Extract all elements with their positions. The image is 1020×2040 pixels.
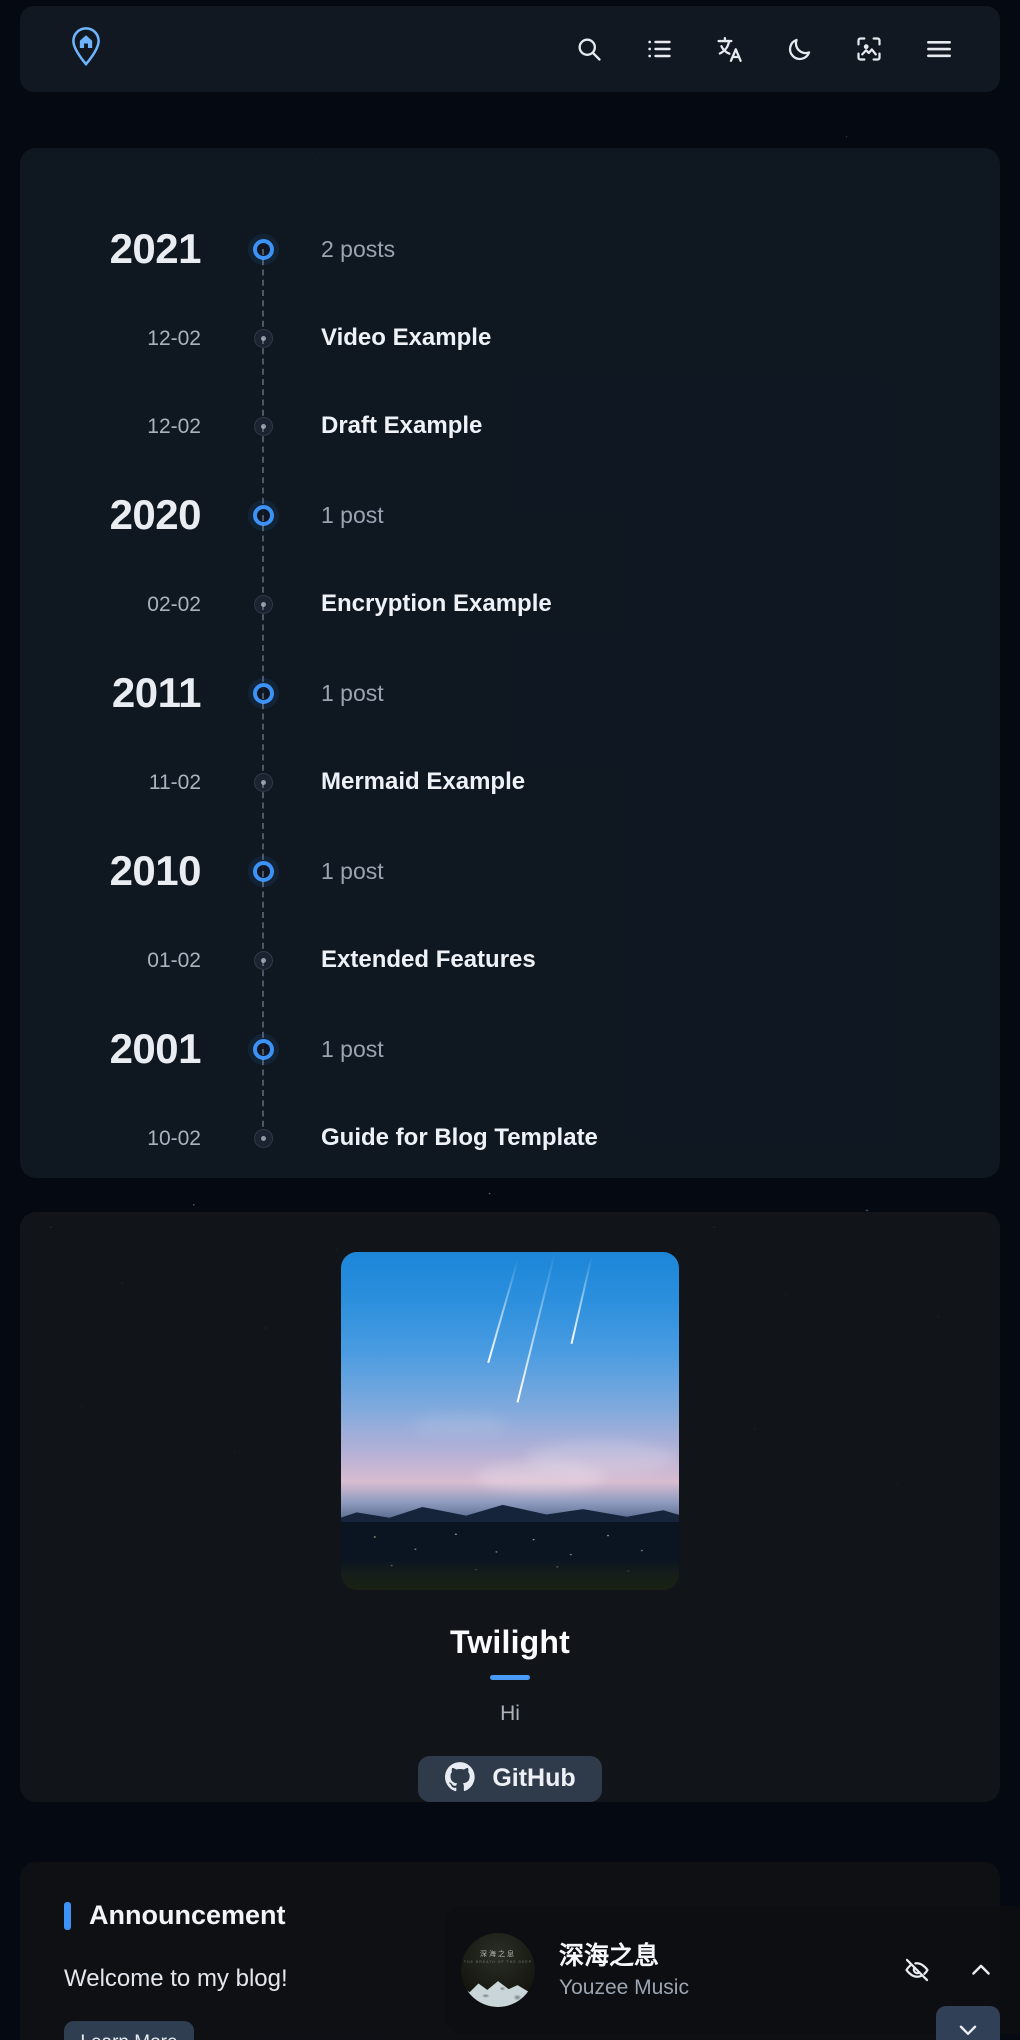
timeline-post-meta: Guide for Blog Template	[291, 1124, 598, 1152]
timeline-node	[235, 1039, 291, 1060]
timeline-post-date: 12-02	[20, 416, 201, 437]
album-cover-wave	[461, 1971, 535, 2007]
music-player: 深海之息 THE BREATH OF THE DEEP 深海之息 Youzee …	[445, 1906, 1020, 2034]
site-logo[interactable]	[68, 26, 104, 73]
timeline-node	[235, 773, 291, 792]
timeline-year-row: 20212 posts	[20, 204, 1000, 294]
search-icon[interactable]	[572, 32, 606, 66]
timeline-year-meta: 1 post	[291, 858, 384, 885]
translate-icon[interactable]	[712, 32, 746, 66]
timeline-year-row: 20201 post	[20, 470, 1000, 560]
timeline-year-row: 20101 post	[20, 826, 1000, 916]
timeline-node	[235, 683, 291, 704]
timeline-post-meta: Encryption Example	[291, 590, 552, 618]
timeline-post-date: 11-02	[20, 772, 201, 793]
timeline-date-cell: 12-02	[20, 416, 235, 437]
timeline-post-title[interactable]: Encryption Example	[321, 590, 552, 618]
timeline-year-row: 20111 post	[20, 648, 1000, 738]
album-cover-title: 深海之息	[461, 1949, 535, 1959]
github-icon	[444, 1761, 476, 1796]
timeline-year-meta: 1 post	[291, 680, 384, 707]
github-button[interactable]: GitHub	[418, 1756, 601, 1802]
avatar-cloud	[476, 1462, 604, 1492]
timeline-post-date: 12-02	[20, 328, 201, 349]
timeline-date-cell: 10-02	[20, 1128, 235, 1149]
chevron-up-icon[interactable]	[964, 1953, 998, 1987]
timeline-post-row[interactable]: 02-02Encryption Example	[20, 560, 1000, 648]
timeline-post-row[interactable]: 12-02Video Example	[20, 294, 1000, 382]
timeline-post-row[interactable]: 10-02Guide for Blog Template	[20, 1094, 1000, 1178]
announcement-learn-more-button[interactable]: Learn More	[64, 2021, 194, 2040]
timeline-post-title[interactable]: Draft Example	[321, 412, 482, 440]
timeline-post-date: 10-02	[20, 1128, 201, 1149]
timeline-year-label: 2020	[20, 494, 201, 536]
song-title: 深海之息	[559, 1940, 900, 1973]
timeline-year-label: 2010	[20, 850, 201, 892]
timeline-post-count: 1 post	[321, 1036, 384, 1063]
timeline-post-count: 1 post	[321, 680, 384, 707]
toc-list-icon[interactable]	[642, 32, 676, 66]
timeline-post-title[interactable]: Guide for Blog Template	[321, 1124, 598, 1152]
timeline-date-cell: 12-02	[20, 328, 235, 349]
timeline-node	[235, 951, 291, 970]
github-button-label: GitHub	[492, 1764, 575, 1793]
timeline-post-title[interactable]: Mermaid Example	[321, 768, 525, 796]
timeline-year-cell: 2001	[20, 1028, 235, 1070]
song-artist: Youzee Music	[559, 1976, 900, 2000]
timeline-post-meta: Extended Features	[291, 946, 536, 974]
timeline-year-cell: 2020	[20, 494, 235, 536]
map-pin-home-icon	[68, 26, 104, 73]
timeline-node	[235, 239, 291, 260]
moon-icon[interactable]	[782, 32, 816, 66]
timeline-post-row[interactable]: 11-02Mermaid Example	[20, 738, 1000, 826]
timeline-post-meta: Video Example	[291, 324, 491, 352]
timeline-post-count: 1 post	[321, 858, 384, 885]
timeline-node	[235, 505, 291, 526]
archive-timeline: 20212 posts12-02Video Example12-02Draft …	[20, 148, 1000, 1178]
navbar	[20, 6, 1000, 92]
eye-off-icon[interactable]	[900, 1953, 934, 1987]
timeline-node	[235, 595, 291, 614]
timeline-date-cell: 01-02	[20, 950, 235, 971]
timeline-post-row[interactable]: 01-02Extended Features	[20, 916, 1000, 1004]
timeline-node	[235, 417, 291, 436]
timeline-post-count: 1 post	[321, 502, 384, 529]
navbar-actions	[572, 32, 956, 66]
timeline-year-meta: 1 post	[291, 502, 384, 529]
profile-name: Twilight	[450, 1624, 570, 1661]
timeline-post-title[interactable]: Video Example	[321, 324, 491, 352]
timeline-year-cell: 2021	[20, 228, 235, 270]
timeline-post-date: 02-02	[20, 594, 201, 615]
timeline-year-meta: 2 posts	[291, 236, 395, 263]
announcement-accent-bar	[64, 1902, 71, 1930]
timeline-year-row: 20011 post	[20, 1004, 1000, 1094]
timeline-node	[235, 861, 291, 882]
music-metadata: 深海之息 Youzee Music	[559, 1940, 900, 2001]
timeline-year-meta: 1 post	[291, 1036, 384, 1063]
timeline-year-label: 2001	[20, 1028, 201, 1070]
archive-timeline-card: 20212 posts12-02Video Example12-02Draft …	[20, 148, 1000, 1178]
announcement-title: Announcement	[89, 1900, 286, 1931]
chevron-down-icon[interactable]	[936, 2006, 1000, 2040]
timeline-post-count: 2 posts	[321, 236, 395, 263]
menu-icon[interactable]	[922, 32, 956, 66]
timeline-year-label: 2021	[20, 228, 201, 270]
timeline-node	[235, 1129, 291, 1148]
timeline-post-row[interactable]: 12-02Draft Example	[20, 382, 1000, 470]
timeline-year-label: 2011	[20, 672, 201, 714]
profile-description: Hi	[500, 1702, 520, 1726]
profile-card: Twilight Hi GitHub	[20, 1212, 1000, 1802]
timeline-node	[235, 329, 291, 348]
profile-divider	[490, 1675, 530, 1680]
music-player-actions	[900, 1953, 998, 1987]
timeline-post-title[interactable]: Extended Features	[321, 946, 536, 974]
image-toggle-icon[interactable]	[852, 32, 886, 66]
timeline-year-cell: 2010	[20, 850, 235, 892]
avatar-foreground-grass	[341, 1560, 679, 1590]
avatar-cloud	[409, 1414, 510, 1434]
timeline-post-meta: Draft Example	[291, 412, 482, 440]
timeline-post-dot[interactable]	[254, 1129, 273, 1148]
timeline-post-date: 01-02	[20, 950, 201, 971]
album-cover[interactable]: 深海之息 THE BREATH OF THE DEEP	[461, 1933, 535, 2007]
timeline-year-cell: 2011	[20, 672, 235, 714]
timeline-date-cell: 02-02	[20, 594, 235, 615]
album-cover-subtitle: THE BREATH OF THE DEEP	[461, 1960, 535, 1964]
avatar	[341, 1252, 679, 1590]
timeline-date-cell: 11-02	[20, 772, 235, 793]
timeline-post-meta: Mermaid Example	[291, 768, 525, 796]
